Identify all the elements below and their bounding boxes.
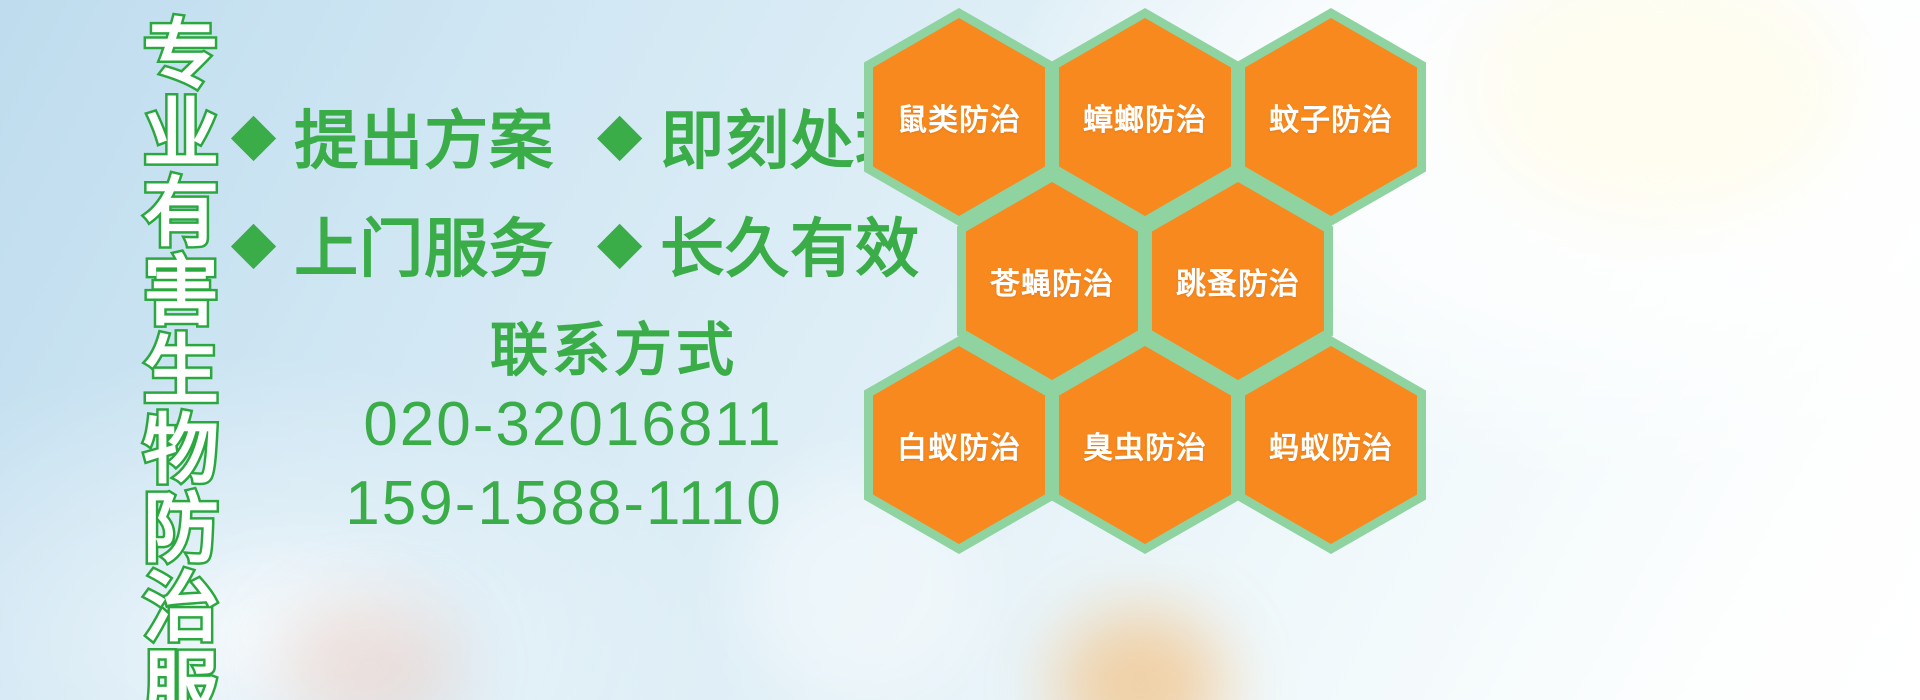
background-blur-blob bbox=[1470, 0, 1850, 220]
pest-control-banner: 专业有害生物防治服务 ◆ 提出方案 ◆ 即刻处理 ◆ 上门服务 ◆ 长久有效 联… bbox=[0, 0, 1920, 700]
slogan-item: ◆ 提出方案 bbox=[232, 90, 598, 182]
diamond-bullet-icon: ◆ bbox=[232, 214, 276, 270]
hexagon-inner: 白蚁防治 bbox=[873, 346, 1045, 544]
slogan-item: ◆ 上门服务 bbox=[232, 198, 598, 290]
service-label: 跳蚤防治 bbox=[1176, 259, 1300, 303]
hexagon-inner: 苍蝇防治 bbox=[966, 182, 1138, 380]
vertical-title: 专业有害生物防治服务 bbox=[108, 14, 212, 700]
service-label: 蚂蚁防治 bbox=[1269, 423, 1393, 467]
hexagon-inner: 蟑螂防治 bbox=[1059, 18, 1231, 216]
hexagon-inner: 蚊子防治 bbox=[1245, 18, 1417, 216]
service-label: 蟑螂防治 bbox=[1083, 95, 1207, 139]
slogan-label: 提出方案 bbox=[294, 90, 554, 182]
service-label: 苍蝇防治 bbox=[990, 259, 1114, 303]
service-label: 白蚁防治 bbox=[897, 423, 1021, 467]
hexagon-inner: 跳蚤防治 bbox=[1152, 182, 1324, 380]
service-label: 鼠类防治 bbox=[897, 95, 1021, 139]
phone-landline[interactable]: 020-32016811 bbox=[346, 385, 800, 464]
phone-mobile[interactable]: 159-1588-1110 bbox=[328, 464, 800, 543]
hexagon-inner: 蚂蚁防治 bbox=[1245, 346, 1417, 544]
hexagon-inner: 鼠类防治 bbox=[873, 18, 1045, 216]
diamond-bullet-icon: ◆ bbox=[598, 106, 642, 162]
service-label: 臭虫防治 bbox=[1083, 423, 1207, 467]
contact-block: 联系方式 020-32016811 159-1588-1110 bbox=[300, 318, 800, 543]
service-label: 蚊子防治 bbox=[1269, 95, 1393, 139]
hexagon-inner: 臭虫防治 bbox=[1059, 346, 1231, 544]
diamond-bullet-icon: ◆ bbox=[232, 106, 276, 162]
slogan-label: 上门服务 bbox=[294, 198, 554, 290]
diamond-bullet-icon: ◆ bbox=[598, 214, 642, 270]
background-blur-blob bbox=[280, 600, 460, 700]
contact-title: 联系方式 bbox=[428, 318, 800, 385]
service-hexagon-grid: 鼠类防治 蟑螂防治 蚊子防治 苍蝇防治 跳蚤防治 白蚁防治 bbox=[852, 0, 1472, 620]
background-blur-blob bbox=[1055, 610, 1225, 700]
